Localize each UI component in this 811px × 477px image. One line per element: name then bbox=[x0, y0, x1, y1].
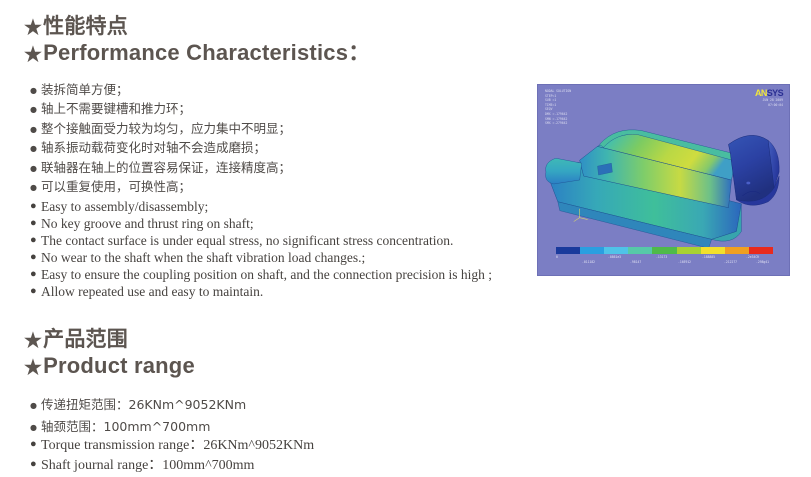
product-range-list-cn: ●传递扭矩范围：26KNm^9052KNm ●轴颈范围：100mm^700mm bbox=[30, 394, 246, 438]
ansys-fea-figure: NODAL SOLUTION STEP=1 SUB =1 TIME=1 SEQV… bbox=[537, 84, 790, 276]
list-item-text: Torque transmission range：26KNm^9052KNm bbox=[41, 438, 314, 453]
ansys-logo-part2: SYS bbox=[767, 88, 783, 98]
product-range-heading-en-text: Product range bbox=[43, 353, 195, 378]
list-item-text: Allow repeated use and easy to maintain. bbox=[41, 284, 263, 299]
star-icon: ★ bbox=[24, 357, 42, 379]
legend-tick-labels: 0 .0861e3 .13173 .188885 .2e34CR .011182… bbox=[556, 254, 773, 267]
bullet-icon: ● bbox=[30, 121, 41, 139]
performance-heading-cn-text: 性能特点 bbox=[43, 15, 128, 38]
fea-meta-block: NODAL SOLUTION STEP=1 SUB =1 TIME=1 SEQV… bbox=[545, 89, 665, 126]
star-icon: ★ bbox=[24, 330, 42, 352]
star-icon: ★ bbox=[24, 17, 42, 39]
bullet-icon: ● bbox=[30, 435, 41, 454]
list-item-text: 联轴器在轴上的位置容易保证，连接精度高； bbox=[41, 160, 291, 175]
list-item: ●装拆简单方便； bbox=[30, 81, 291, 100]
bullet-icon: ● bbox=[30, 179, 41, 197]
list-item-text: The contact surface is under equal stres… bbox=[41, 233, 453, 248]
list-item-text: 整个接触面受力较为均匀，应力集中不明显； bbox=[41, 121, 291, 136]
legend-swatch bbox=[701, 247, 725, 254]
star-icon: ★ bbox=[24, 44, 42, 66]
list-item-text: Easy to assembly/disassembly; bbox=[41, 199, 208, 214]
list-item: ●可以重复使用，可换性高； bbox=[30, 178, 291, 197]
legend-swatch bbox=[725, 247, 749, 254]
legend-swatch bbox=[628, 247, 652, 254]
performance-list-cn: ●装拆简单方便； ●轴上不需要键槽和推力环； ●整个接触面受力较为均匀，应力集中… bbox=[30, 81, 291, 197]
ansys-logo: ANSYS JUN 28 2009 07:00:04 bbox=[755, 88, 783, 107]
bullet-icon: ● bbox=[30, 232, 41, 249]
bullet-icon: ● bbox=[30, 140, 41, 158]
list-item-text: 轴系振动载荷变化时对轴不会造成磨损； bbox=[41, 140, 266, 155]
product-range-heading-en: ★Product range bbox=[24, 353, 195, 381]
product-range-list-en: ●Torque transmission range：26KNm^9052KNm… bbox=[30, 435, 314, 475]
list-item: ●轴系振动载荷变化时对轴不会造成磨损； bbox=[30, 139, 291, 158]
bullet-icon: ● bbox=[30, 266, 41, 283]
bullet-icon: ● bbox=[30, 283, 41, 300]
legend-swatch bbox=[652, 247, 676, 254]
bullet-icon: ● bbox=[30, 249, 41, 266]
performance-heading-cn: ★性能特点 bbox=[24, 15, 128, 40]
product-range-heading-cn-text: 产品范围 bbox=[43, 328, 128, 351]
product-range-heading-cn: ★产品范围 bbox=[24, 328, 128, 353]
list-item: ●No wear to the shaft when the shaft vib… bbox=[30, 249, 492, 266]
list-item: ●Torque transmission range：26KNm^9052KNm bbox=[30, 435, 314, 455]
list-item: ●整个接触面受力较为均匀，应力集中不明显； bbox=[30, 120, 291, 139]
legend-tick: 0 bbox=[556, 255, 558, 259]
list-item: ●The contact surface is under equal stre… bbox=[30, 232, 492, 249]
list-item-text: 传递扭矩范围：26KNm^9052KNm bbox=[41, 397, 246, 412]
performance-heading-en-text: Performance Characteristics： bbox=[43, 40, 370, 65]
legend-swatch bbox=[749, 247, 773, 254]
bullet-icon: ● bbox=[30, 198, 41, 215]
legend-tick: .98147 bbox=[630, 260, 641, 264]
list-item-text: 装拆简单方便； bbox=[41, 82, 129, 97]
ansys-wordmark: ANSYS bbox=[755, 88, 783, 98]
list-item-text: Easy to ensure the coupling position on … bbox=[41, 267, 492, 282]
list-item-text: No key groove and thrust ring on shaft; bbox=[41, 216, 254, 231]
legend-swatch bbox=[580, 247, 604, 254]
list-item: ●Easy to assembly/disassembly; bbox=[30, 198, 492, 215]
list-item-text: 轴上不需要键槽和推力环； bbox=[41, 101, 191, 116]
legend-tick: .0861e3 bbox=[608, 255, 621, 259]
performance-list-en: ●Easy to assembly/disassembly; ●No key g… bbox=[30, 198, 492, 300]
bullet-icon: ● bbox=[30, 160, 41, 178]
fea-meta-line: SMX =.279642 bbox=[545, 121, 665, 126]
bullet-icon: ● bbox=[30, 215, 41, 232]
list-item: ●Allow repeated use and easy to maintain… bbox=[30, 283, 492, 300]
list-item: ●Shaft journal range：100mm^700mm bbox=[30, 455, 314, 475]
legend-tick: .298g41 bbox=[756, 260, 769, 264]
legend-tick: .212277 bbox=[724, 260, 737, 264]
list-item-text: Shaft journal range：100mm^700mm bbox=[41, 458, 254, 473]
list-item-text: No wear to the shaft when the shaft vibr… bbox=[41, 250, 365, 265]
legend-tick: .188885 bbox=[702, 255, 715, 259]
legend-tick: .13173 bbox=[656, 255, 667, 259]
list-item: ●联轴器在轴上的位置容易保证，连接精度高； bbox=[30, 159, 291, 178]
bullet-icon: ● bbox=[30, 82, 41, 100]
ansys-logo-part1: AN bbox=[755, 88, 767, 98]
list-item-text: 轴颈范围：100mm^700mm bbox=[41, 419, 210, 434]
legend-tick: .16E912 bbox=[678, 260, 691, 264]
list-item: ●Easy to ensure the coupling position on… bbox=[30, 266, 492, 283]
fea-color-legend: 0 .0861e3 .13173 .188885 .2e34CR .011182… bbox=[556, 247, 773, 267]
legend-tick: .2e34CR bbox=[746, 255, 759, 259]
legend-tick: .011182 bbox=[582, 260, 595, 264]
performance-heading-en: ★Performance Characteristics： bbox=[24, 40, 370, 68]
list-item: ●传递扭矩范围：26KNm^9052KNm bbox=[30, 394, 246, 416]
fea-date-line: 07:00:04 bbox=[755, 103, 783, 108]
legend-swatch bbox=[556, 247, 580, 254]
list-item-text: 可以重复使用，可换性高； bbox=[41, 179, 191, 194]
list-item: ●No key groove and thrust ring on shaft; bbox=[30, 215, 492, 232]
bullet-icon: ● bbox=[30, 395, 41, 416]
fea-date-block: JUN 28 2009 07:00:04 bbox=[755, 98, 783, 107]
legend-swatch bbox=[604, 247, 628, 254]
list-item: ●轴上不需要键槽和推力环； bbox=[30, 100, 291, 119]
legend-swatch bbox=[677, 247, 701, 254]
legend-color-bar bbox=[556, 247, 773, 254]
bullet-icon: ● bbox=[30, 101, 41, 119]
bullet-icon: ● bbox=[30, 455, 41, 474]
